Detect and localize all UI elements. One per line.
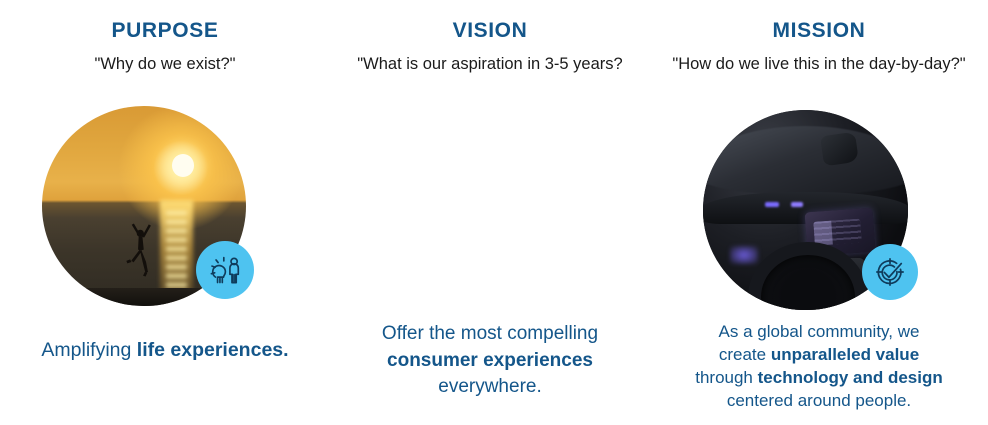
statement-line-3-normal: through: [695, 368, 757, 387]
purpose-vision-mission-board: PURPOSE "Why do we exist?": [0, 0, 988, 425]
statement-purpose: Amplifying life experiences.: [0, 337, 330, 364]
heading-mission: MISSION: [650, 0, 988, 41]
column-mission: MISSION "How do we live this in the day-…: [650, 0, 988, 425]
photo-circle-purpose: [42, 106, 246, 306]
question-purpose: "Why do we exist?": [0, 41, 330, 76]
column-vision: VISION "What is our aspiration in 3-5 ye…: [330, 0, 650, 425]
statement-text-bold: life experiences.: [137, 339, 289, 361]
heading-purpose: PURPOSE: [0, 0, 330, 41]
lightbulb-person-icon: [206, 251, 244, 289]
column-purpose: PURPOSE "Why do we exist?": [0, 0, 330, 425]
statement-line-2-bold: unparalleled value: [771, 345, 919, 364]
question-vision: "What is our aspiration in 3-5 years?: [330, 41, 650, 76]
question-mission: "How do we live this in the day-by-day?": [650, 41, 988, 76]
statement-vision: Offer the most compelling consumer exper…: [330, 321, 650, 401]
badge-purpose: [196, 241, 254, 299]
question-line-1: "What is our aspiration: [357, 55, 522, 73]
statement-line-3: everywhere.: [330, 374, 650, 401]
statement-text-normal: Amplifying: [41, 339, 136, 361]
statement-line-2-normal: create: [719, 345, 771, 364]
sun-disc: [172, 154, 194, 177]
statement-line-1: Offer the most compelling: [330, 321, 650, 348]
question-line-2: in 3-5 years?: [527, 55, 622, 73]
statement-line-2-bold: consumer experiences: [330, 348, 650, 375]
statement-line-4: centered around people.: [650, 389, 988, 412]
jumping-person-silhouette: [124, 218, 157, 278]
statement-line-1: As a global community, we: [650, 320, 988, 343]
statement-mission: As a global community, we create unparal…: [650, 320, 988, 412]
statement-line-3-bold: technology and design: [758, 368, 943, 387]
heading-vision: VISION: [330, 0, 650, 41]
